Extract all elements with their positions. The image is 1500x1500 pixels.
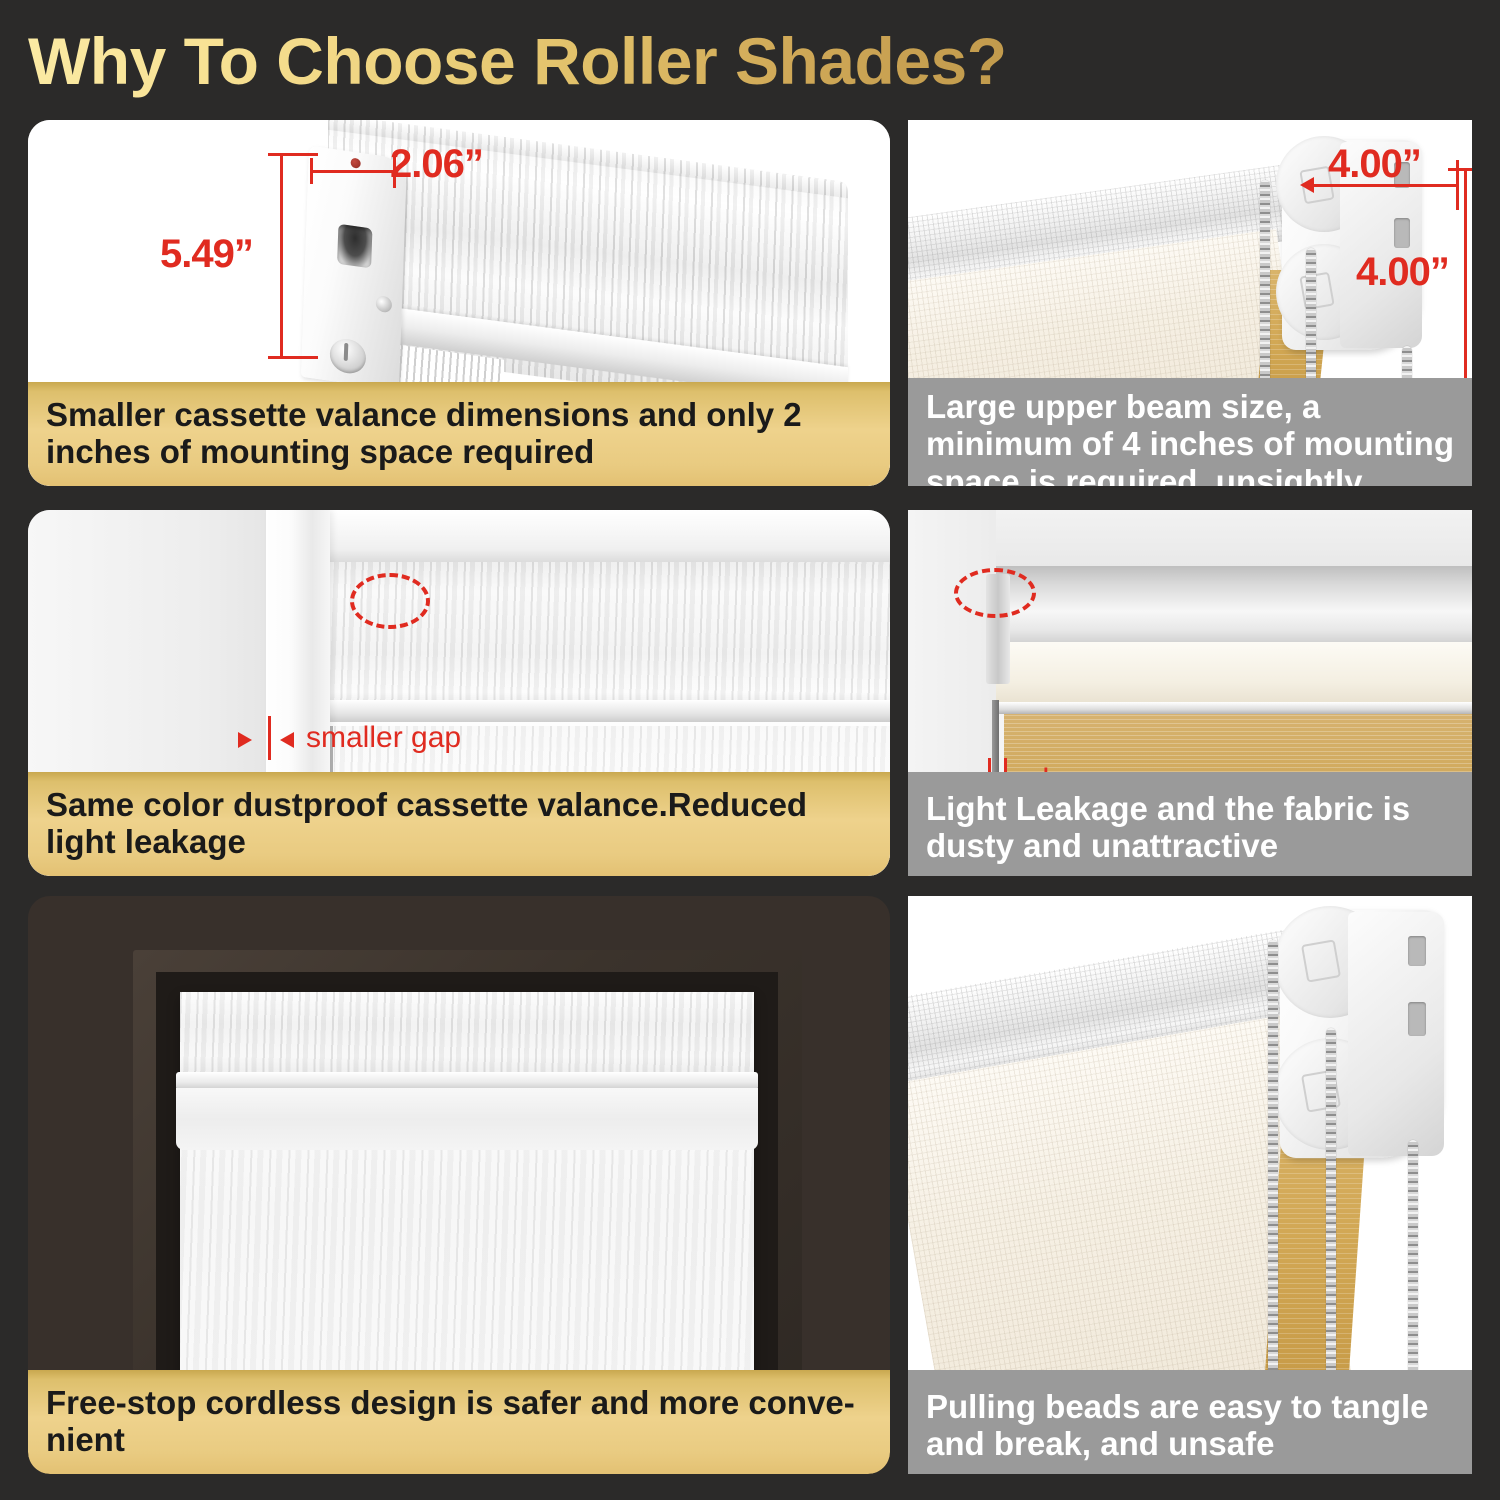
- height-dimension-line: [280, 153, 283, 358]
- width-dimension-label: 2.06”: [390, 142, 483, 187]
- caption-bottom-left: Free-stop cordless design is safer and m…: [28, 1370, 890, 1474]
- panel-middle-right: Large gap Light Leakage and the fabric i…: [908, 510, 1472, 876]
- cap-screw-small: [376, 295, 393, 313]
- highlight-circle: [954, 568, 1036, 618]
- gap-marker-line: [268, 716, 271, 760]
- caption-bottom-right: Pulling beads are easy to tangle and bre…: [908, 1370, 1472, 1474]
- beam-width-arrow-left: [1300, 177, 1314, 193]
- panel-top-left: 5.49” 2.06” Smaller cassette valance dim…: [28, 120, 890, 486]
- comparison-grid: 5.49” 2.06” Smaller cassette valance dim…: [0, 0, 1500, 1500]
- panel-middle-left: smaller gap Same color dustproof cassett…: [28, 510, 890, 876]
- caption-middle-left: Same color dustproof cassette valance.Re…: [28, 772, 890, 876]
- cap-slot: [337, 224, 372, 269]
- beam-height-tick-top: [1448, 168, 1472, 171]
- bead-chain-left[interactable]: [1260, 180, 1270, 396]
- height-dimension-label: 5.49”: [160, 232, 253, 277]
- fabric-roll: [176, 1088, 758, 1150]
- caption-middle-right: Light Leakage and the fabric is dusty an…: [908, 772, 1472, 876]
- cassette-lip: [328, 700, 890, 722]
- bead-chain-left[interactable]: [1268, 940, 1278, 1390]
- panel-top-right: 4.00” 4.00” Large upper beam size, a min…: [908, 120, 1472, 486]
- roller-edge-bar: [996, 702, 1472, 714]
- roller-beam: [996, 566, 1472, 648]
- height-dim-tick-bottom: [268, 356, 318, 359]
- roller-bracket: [1280, 910, 1440, 1158]
- bead-chain-right[interactable]: [1408, 1140, 1418, 1390]
- panel-bottom-right: Pulling beads are easy to tangle and bre…: [908, 896, 1472, 1474]
- panel-bottom-left: Free-stop cordless design is safer and m…: [28, 896, 890, 1474]
- gap-arrow-left: [238, 732, 252, 748]
- window-head-trim: [266, 510, 890, 562]
- highlight-circle: [350, 573, 430, 629]
- bead-chain-mid[interactable]: [1326, 1028, 1336, 1390]
- bead-chain-mid[interactable]: [1306, 248, 1316, 398]
- height-dim-tick-top: [268, 153, 318, 156]
- gap-arrow-right: [280, 732, 294, 748]
- gap-label: smaller gap: [306, 721, 461, 755]
- beam-width-dimension-label: 4.00”: [1328, 142, 1421, 187]
- roller-fabric-roll: [996, 642, 1472, 704]
- caption-top-right: Large upper beam size, a minimum of 4 in…: [908, 378, 1472, 486]
- caption-top-left: Smaller cassette valance dimensions and …: [28, 382, 890, 486]
- width-dim-tick-left: [310, 158, 313, 184]
- cassette-valance: [180, 992, 754, 1084]
- beam-height-dimension-line: [1464, 168, 1467, 380]
- cap-screw-large: [329, 337, 366, 376]
- width-dimension-line: [310, 170, 396, 173]
- beam-height-dimension-label: 4.00”: [1356, 250, 1449, 295]
